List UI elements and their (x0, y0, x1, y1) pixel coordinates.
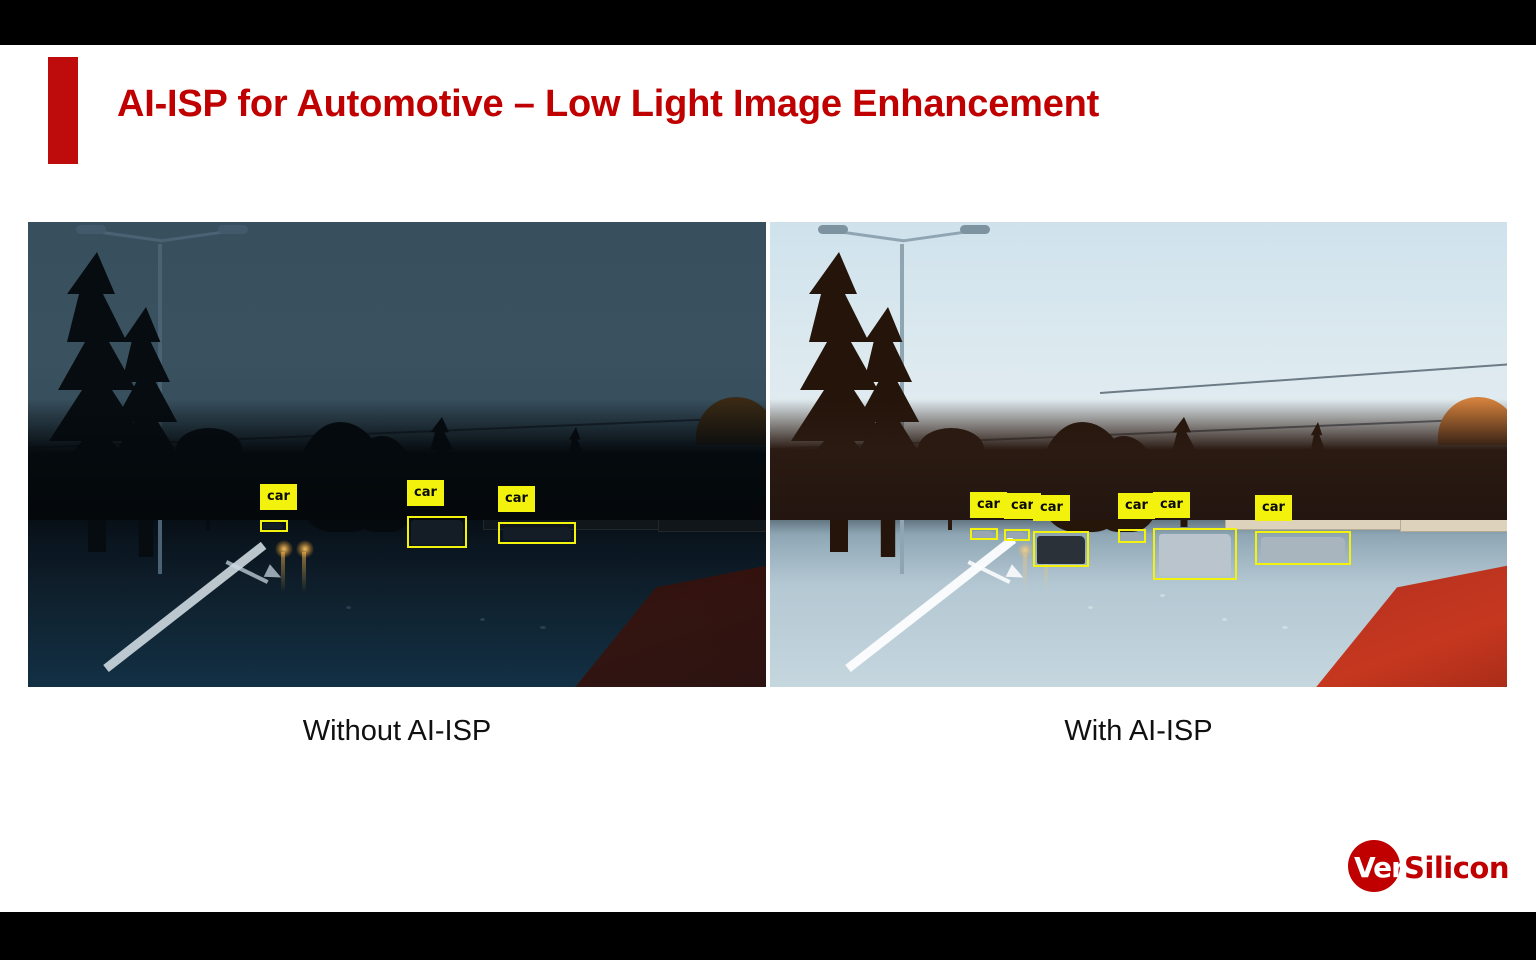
wet-road-sparkle (1222, 618, 1227, 621)
car-silhouette (1159, 534, 1231, 576)
street-lamp-head-left (76, 225, 106, 234)
wet-road-sparkle (540, 626, 546, 629)
detection-label: car (260, 484, 297, 510)
scene-enhanced: DOLLAR DEAL (770, 222, 1507, 687)
letterbox-bottom (0, 912, 1536, 960)
slide-root: AI-ISP for Automotive – Low Light Image … (0, 0, 1536, 960)
letterbox-top (0, 0, 1536, 45)
logo-silicon-text: Silicon (1404, 851, 1509, 885)
car-silhouette (1261, 537, 1345, 561)
street-lamp-head-right (960, 225, 990, 234)
car-silhouette (411, 520, 463, 545)
wet-road-sparkle (1282, 626, 1288, 629)
scene-night-dark: DOLLAR DEAL (28, 222, 766, 687)
wet-road-sparkle (1160, 594, 1165, 597)
car-silhouette (1007, 532, 1025, 538)
detection-label: car (407, 480, 444, 506)
street-lamp-head-right (218, 225, 248, 234)
detection-car: car (1004, 493, 1032, 541)
headlight-reflection-streak (1023, 554, 1027, 592)
photo-without-ai-isp: DOLLAR DEAL (28, 222, 766, 687)
detection-label: car (1255, 495, 1292, 521)
detection-car: car (498, 486, 578, 544)
detection-car: car (970, 492, 1000, 540)
foreground-shadow (28, 399, 766, 520)
headlight-reflection-streak (302, 552, 306, 592)
detection-car: car (1033, 495, 1091, 567)
detection-label: car (1033, 495, 1070, 521)
detection-label: car (498, 486, 535, 512)
detection-label: car (970, 492, 1007, 518)
car-silhouette (263, 523, 283, 529)
headlight-reflection-streak (281, 552, 285, 592)
car-silhouette (503, 527, 571, 540)
car-silhouette (1121, 533, 1141, 540)
detection-label: car (1118, 493, 1155, 519)
detection-car: car (1153, 492, 1239, 580)
street-lamp-head-left (818, 225, 848, 234)
caption-with-ai-isp: With AI-ISP (770, 715, 1507, 748)
car-silhouette (973, 531, 993, 537)
caption-without-ai-isp: Without AI-ISP (28, 715, 766, 748)
detection-car: car (407, 480, 469, 548)
wet-road-sparkle (346, 606, 351, 609)
detection-car: car (260, 484, 290, 532)
wet-road-sparkle (1088, 606, 1093, 609)
page-title: AI-ISP for Automotive – Low Light Image … (117, 83, 1099, 126)
title-accent-bar (48, 57, 78, 164)
detection-car: car (1255, 495, 1353, 565)
detection-car: car (1118, 493, 1148, 543)
slide-canvas: AI-ISP for Automotive – Low Light Image … (0, 45, 1536, 912)
detection-label: car (1153, 492, 1190, 518)
car-silhouette (1037, 536, 1085, 564)
photo-with-ai-isp: DOLLAR DEAL (770, 222, 1507, 687)
wet-road-sparkle (480, 618, 485, 621)
